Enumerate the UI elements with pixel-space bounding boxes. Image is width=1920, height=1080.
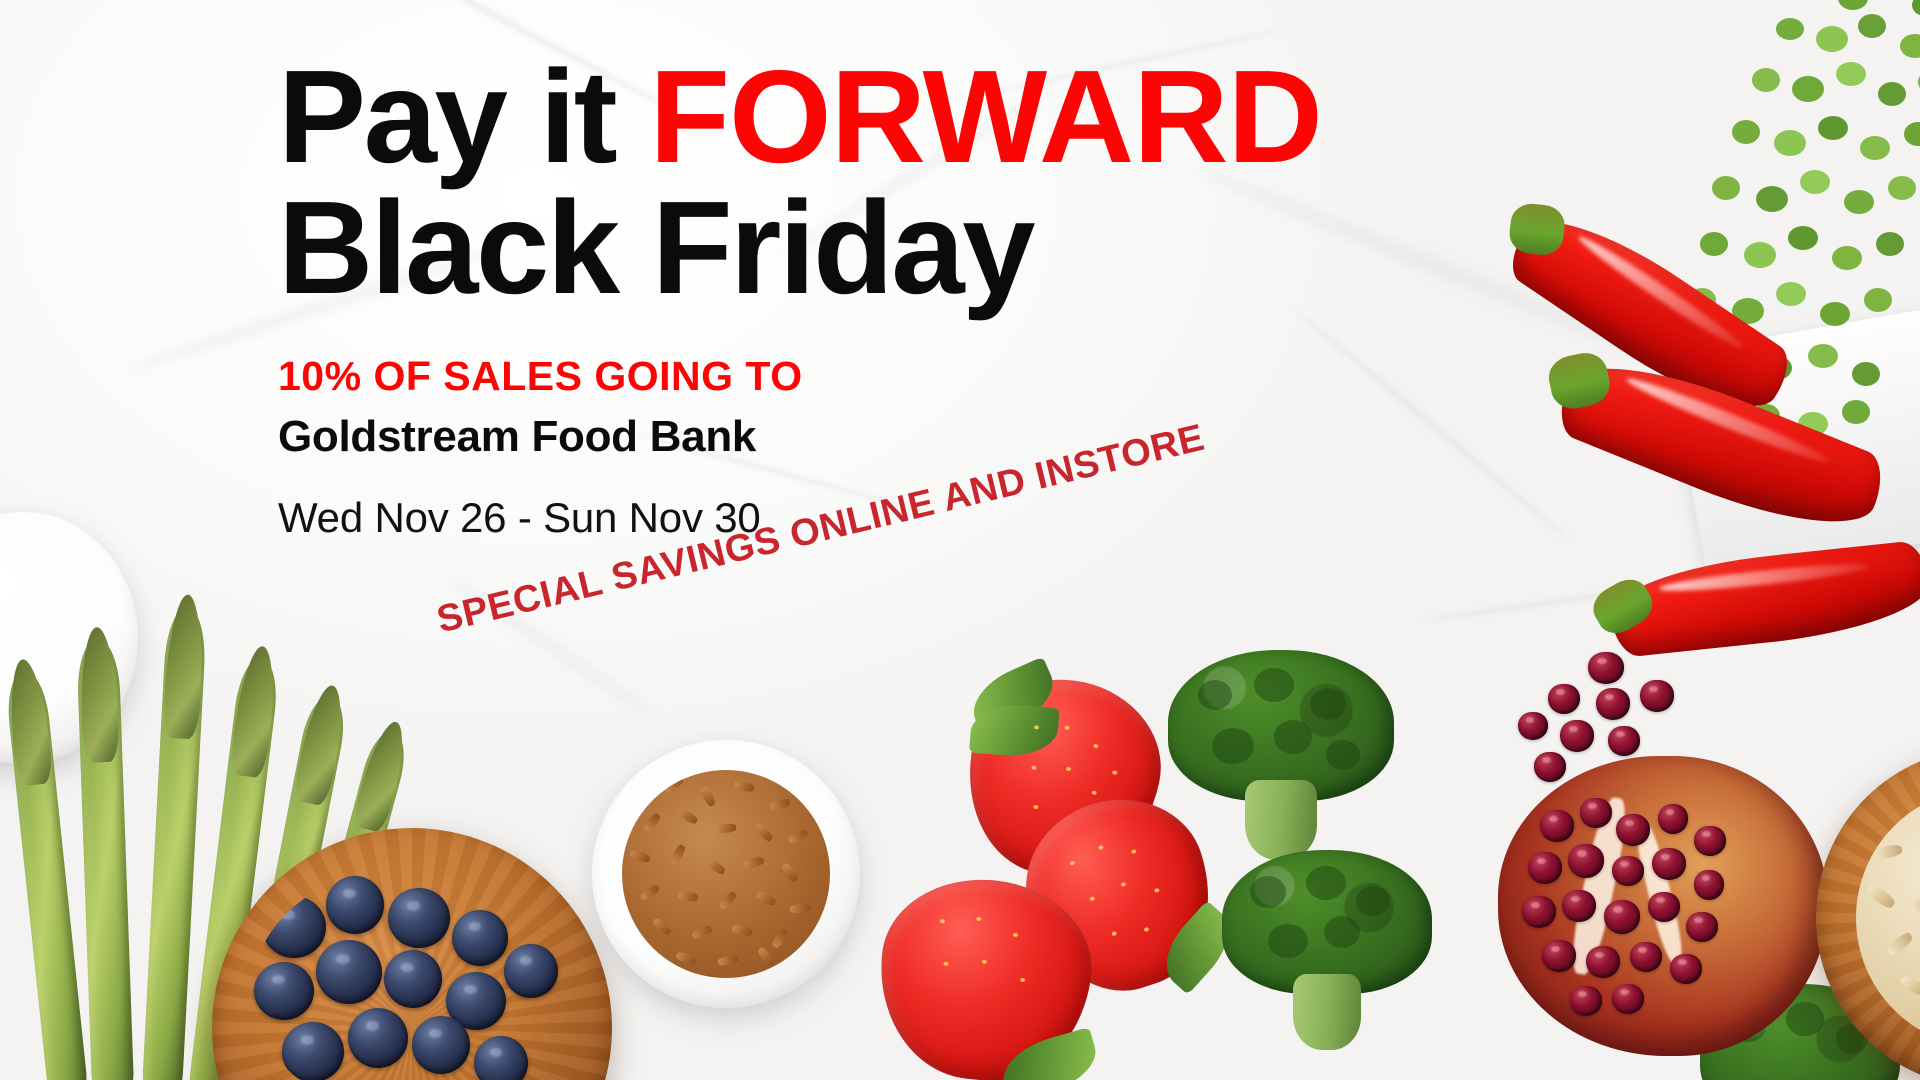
headline-line2: Black Friday [278,185,1288,312]
headline-line1-black: Pay it [278,43,649,190]
broccoli-floret [1168,650,1394,860]
strawberry [870,870,1100,1080]
headline-line1-red: FORWARD [649,43,1322,190]
rolled-oats [1856,788,1920,1048]
asparagus-spears [30,560,360,1080]
page-title: Pay it FORWARD Black Friday [278,54,1288,311]
flax-seeds [622,770,830,978]
broccoli-floret [1700,984,1900,1080]
marble-vein [1290,305,1570,541]
microgreens [1612,0,1920,544]
oat-wooden-bowl [1816,748,1920,1080]
red-chili-pepper [1606,540,1920,659]
donation-subheading: 10% OF SALES GOING TO [278,353,1288,400]
red-chili-pepper [1550,338,1893,552]
flax-seed-bowl [592,740,860,1008]
broccoli-floret [1222,850,1432,1050]
strawberry [1005,777,1235,1013]
strawberry [950,662,1177,893]
black-friday-promo-poster: Pay it FORWARD Black Friday 10% OF SALES… [0,0,1920,1080]
microgreens-tray [1668,309,1920,581]
pomegranate-seeds [1504,650,1694,780]
pomegranate [1498,756,1828,1056]
almond-bowl [0,512,138,764]
blueberry-group [252,866,572,1080]
almond-group [0,530,122,750]
marble-vein [1421,582,1679,623]
blueberry-wooden-bowl [212,828,612,1080]
red-chili-pepper [1500,192,1800,436]
